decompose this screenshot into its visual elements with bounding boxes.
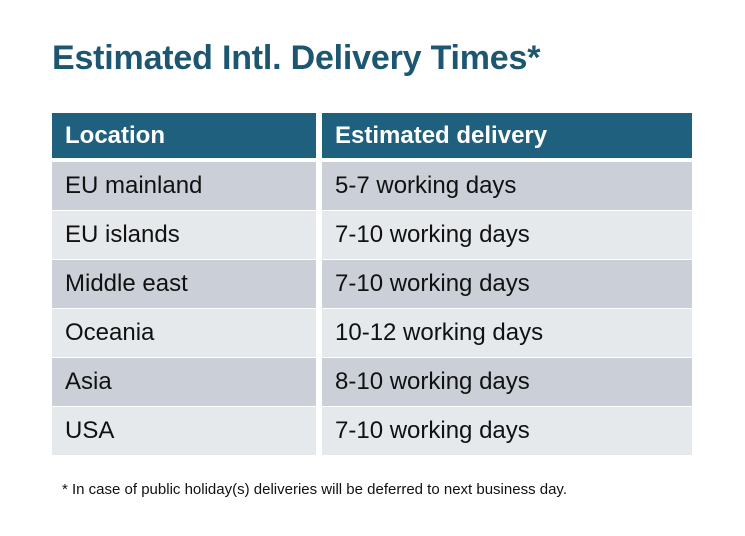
cell-estimated-delivery: 7-10 working days <box>322 260 692 308</box>
cell-estimated-delivery: 7-10 working days <box>322 407 692 455</box>
cell-location: EU islands <box>52 211 316 259</box>
table-row: Oceania 10-12 working days <box>52 309 692 357</box>
table-row: USA 7-10 working days <box>52 407 692 455</box>
cell-estimated-delivery: 8-10 working days <box>322 358 692 406</box>
cell-location: USA <box>52 407 316 455</box>
table-header-row: Location Estimated delivery <box>52 113 692 158</box>
cell-location: Asia <box>52 358 316 406</box>
cell-estimated-delivery: 10-12 working days <box>322 309 692 357</box>
delivery-times-table: Location Estimated delivery EU mainland … <box>52 113 692 456</box>
table-row: EU mainland 5-7 working days <box>52 162 692 210</box>
table-row: Middle east 7-10 working days <box>52 260 692 308</box>
cell-location: Middle east <box>52 260 316 308</box>
cell-location: Oceania <box>52 309 316 357</box>
cell-location: EU mainland <box>52 162 316 210</box>
page-title: Estimated Intl. Delivery Times* <box>52 36 540 80</box>
delivery-times-page: Estimated Intl. Delivery Times* Location… <box>0 0 745 536</box>
cell-estimated-delivery: 7-10 working days <box>322 211 692 259</box>
column-header-location: Location <box>52 113 316 158</box>
table-row: EU islands 7-10 working days <box>52 211 692 259</box>
cell-estimated-delivery: 5-7 working days <box>322 162 692 210</box>
footnote-text: * In case of public holiday(s) deliverie… <box>62 480 567 500</box>
column-header-estimated-delivery: Estimated delivery <box>322 113 692 158</box>
table-row: Asia 8-10 working days <box>52 358 692 406</box>
